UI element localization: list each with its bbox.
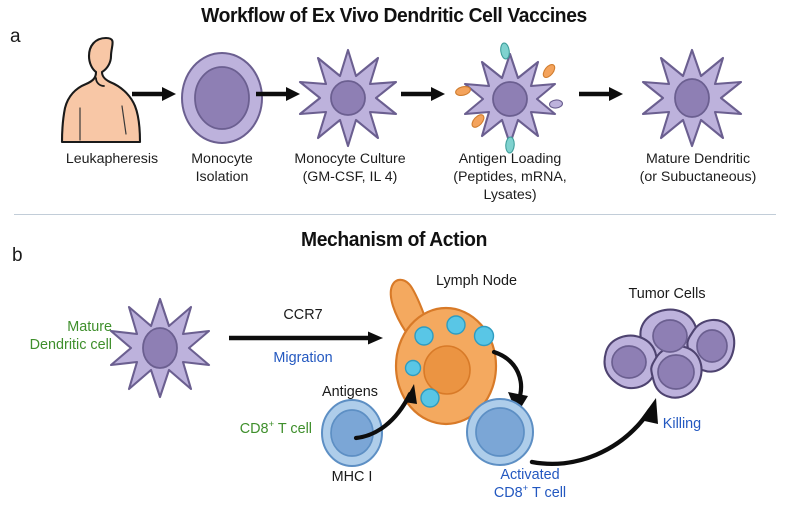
tumor-cells-icon-wrap	[598, 304, 734, 404]
caption-line: Antigen Loading	[435, 150, 585, 168]
caption-line: (GM-CSF, IL 4)	[280, 168, 420, 186]
figure-root: a Workflow of Ex Vivo Dendritic Cell Vac…	[0, 0, 788, 506]
step-3-icon-dendritic-cell	[296, 46, 400, 150]
caption-line: (Peptides, mRNA,	[435, 168, 585, 186]
caption-line: Mature Dendritic	[618, 150, 778, 168]
panel-a-title: Workflow of Ex Vivo Dendritic Cell Vacci…	[24, 4, 765, 28]
caption-line: Monocyte	[152, 150, 292, 168]
label-cd8-t-cell: CD8+ T cell	[180, 420, 312, 438]
step-5-caption: Mature Dendritic (or Subuctaneous)	[618, 150, 778, 186]
panel-a-letter: a	[10, 27, 21, 46]
workflow-arrow-4	[578, 86, 624, 102]
label-line: CD8+ T cell	[455, 484, 605, 502]
antigen-loaded-dc-icon	[452, 42, 568, 154]
label-mature-dendritic-cell: Mature Dendritic cell	[0, 318, 112, 355]
activated-cd8-t-cell-icon	[464, 396, 536, 468]
migration-arrow	[228, 330, 384, 346]
arrow-right-icon	[578, 86, 624, 102]
workflow-arrow-3	[400, 86, 446, 102]
arrow-right-icon	[228, 330, 384, 346]
arrow-right-icon	[255, 86, 301, 102]
panel-b-letter: b	[12, 246, 23, 265]
label-cd8-prefix: CD8	[494, 485, 523, 501]
label-line: Mature	[0, 318, 112, 336]
workflow-arrow-1	[131, 86, 177, 102]
label-lymph-node: Lymph Node	[436, 272, 517, 290]
label-cd8-suffix: T cell	[528, 485, 566, 501]
arrow-right-icon	[131, 86, 177, 102]
mature-dc-icon	[638, 46, 746, 150]
caption-line: Lysates)	[435, 186, 585, 204]
caption-line: Monocyte Culture	[280, 150, 420, 168]
caption-line: (or Subuctaneous)	[618, 168, 778, 186]
workflow-arrow-2	[255, 86, 301, 102]
tcell-to-lymphnode-arrow	[352, 380, 432, 442]
label-line: Dendritic cell	[0, 336, 112, 354]
label-ccr7: CCR7	[228, 306, 378, 324]
panel-b-title: Mechanism of Action	[24, 228, 765, 252]
panel-divider	[14, 214, 776, 215]
step-2-caption: Monocyte Isolation	[152, 150, 292, 186]
label-cd8-suffix: T cell	[274, 421, 312, 437]
label-tumor-cells: Tumor Cells	[592, 285, 742, 303]
label-activated-cd8-t-cell: Activated CD8+ T cell	[455, 466, 605, 503]
step-4-caption: Antigen Loading (Peptides, mRNA, Lysates…	[435, 150, 585, 204]
activated-cd8-t-cell-icon-wrap	[464, 396, 536, 468]
label-migration: Migration	[228, 349, 378, 367]
arrow-right-icon	[400, 86, 446, 102]
label-killing: Killing	[632, 415, 732, 433]
caption-line: Isolation	[152, 168, 292, 186]
step-5-icon-mature-dc	[638, 46, 746, 150]
label-mhc-i: MHC I	[297, 468, 407, 486]
label-cd8-prefix: CD8	[240, 421, 269, 437]
curved-arrow-up-right-icon	[352, 380, 432, 442]
mature-dendritic-cell-icon	[108, 296, 212, 400]
dendritic-cell-icon	[296, 46, 400, 150]
mdc-icon-wrap	[108, 296, 212, 400]
step-3-caption: Monocyte Culture (GM-CSF, IL 4)	[280, 150, 420, 186]
step-4-icon-antigen-loaded-dc	[452, 42, 568, 154]
tumor-cells-icon	[598, 304, 734, 404]
